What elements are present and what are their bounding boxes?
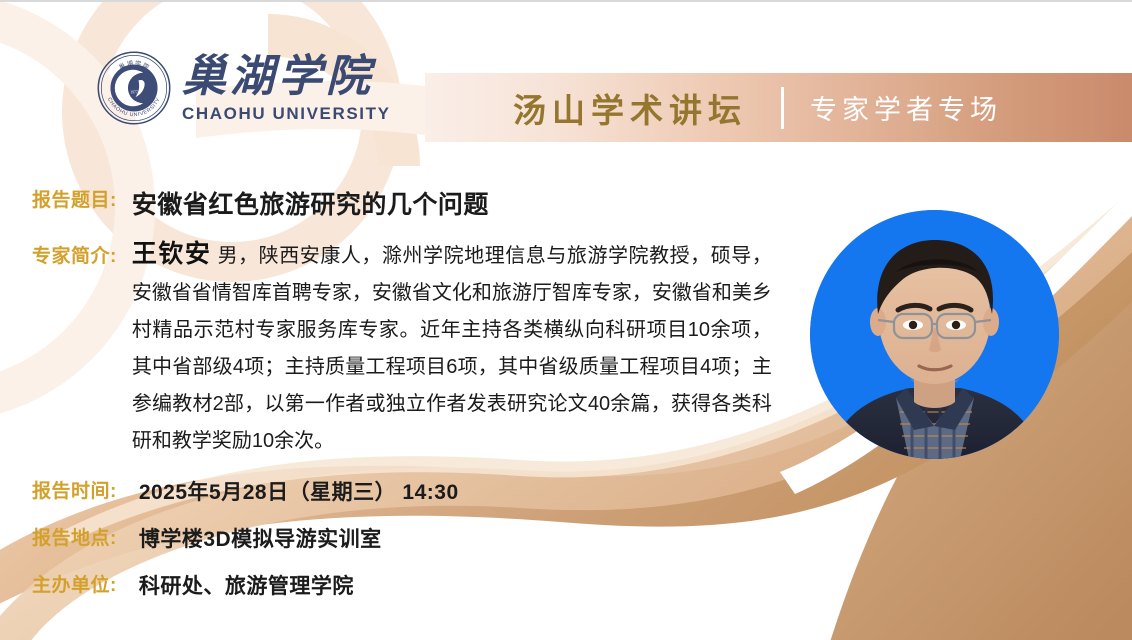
report-title-value: 安徽省红色旅游研究的几个问题 [132, 185, 489, 221]
speaker-portrait [810, 210, 1059, 459]
organizer-label: 主办单位: [32, 570, 117, 597]
event-poster: 1977 巢 湖 学 院 CHAOHU UNIVERSITY 巢湖学院 CHAO… [0, 0, 1132, 640]
row-report-title: 报告题目: 安徽省红色旅游研究的几个问题 [32, 185, 489, 221]
speaker-bio-label: 专家简介: [32, 236, 117, 268]
speaker-bio-text: 王钦安 男，陕西安康人，滁州学院地理信息与旅游学院教授，硕导，安徽省省情智库首聘… [132, 236, 772, 460]
speaker-name: 王钦安 [132, 240, 212, 268]
speaker-bio-detail: 男，陕西安康人，滁州学院地理信息与旅游学院教授，硕导，安徽省省情智库首聘专家，安… [132, 245, 772, 452]
row-speaker-bio: 专家简介: 王钦安 男，陕西安康人，滁州学院地理信息与旅游学院教授，硕导，安徽省… [32, 236, 802, 460]
report-place-label: 报告地点: [32, 523, 117, 550]
report-time-label: 报告时间: [32, 476, 117, 503]
organizer-value: 科研处、旅游管理学院 [139, 570, 354, 600]
row-report-time: 报告时间: 2025年5月28日（星期三） 14:30 [32, 476, 459, 506]
row-organizer: 主办单位: 科研处、旅游管理学院 [32, 570, 354, 600]
row-report-place: 报告地点: 博学楼3D模拟导游实训室 [32, 523, 382, 553]
speaker-photo [810, 210, 1059, 459]
report-title-label: 报告题目: [32, 185, 117, 212]
report-time-value: 2025年5月28日（星期三） 14:30 [139, 476, 459, 506]
report-place-value: 博学楼3D模拟导游实训室 [139, 523, 382, 553]
